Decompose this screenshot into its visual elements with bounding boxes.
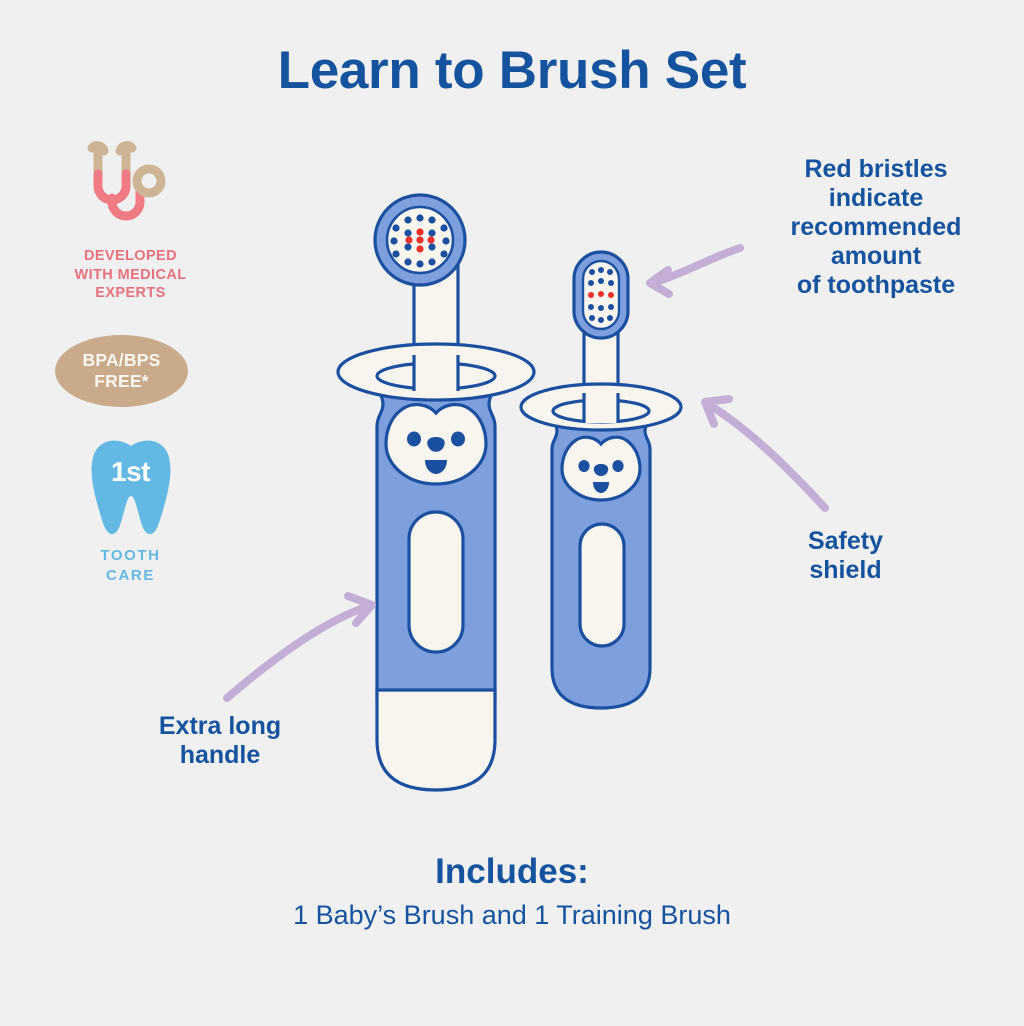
sloth-eye-left-large (407, 432, 421, 447)
callout-extra-long-handle-line-1: Extra long (120, 712, 320, 741)
baby-brush-neck (584, 285, 618, 425)
page-title: Learn to Brush Set (0, 40, 1024, 101)
sloth-mouth-small (593, 482, 609, 493)
training-brush-bristles (390, 214, 449, 267)
callout-red-bristles-line-4: amount (735, 242, 1017, 271)
badge-tooth-caption: TOOTH CARE (38, 546, 223, 585)
badge-medical-caption: DEVELOPED WITH MEDICAL EXPERTS (38, 247, 223, 303)
callout-red-bristles-line-1: Red bristles (735, 155, 1017, 184)
training-brush-bristle-pad (387, 207, 453, 273)
sloth-nose-large (427, 437, 445, 452)
infographic-canvas: Learn to Brush Set DEVELOPED WITH MEDICA… (0, 0, 1024, 1026)
brush-training-large (338, 195, 534, 790)
badge-developed-with-medical-experts: DEVELOPED WITH MEDICAL EXPERTS (38, 138, 223, 303)
training-brush-neck-through-shield (414, 355, 458, 391)
baby-brush-head (574, 252, 628, 338)
training-brush-sloth-face (386, 405, 486, 484)
badge-tooth-line-2: CARE (38, 566, 223, 586)
training-brush-head (375, 195, 465, 285)
baby-brush-neck-through-shield (584, 393, 618, 423)
badge-bpa-bps-free: BPA/BPS FREE* (55, 335, 188, 407)
stethoscope-icon (76, 138, 186, 238)
callout-extra-long-handle-line-2: handle (120, 741, 320, 770)
callout-safety-shield: Safety shield (748, 527, 943, 585)
training-brush-shield-inner-ring (377, 363, 495, 389)
callout-red-bristles-line-3: recommended (735, 213, 1017, 242)
includes-label: Includes: (0, 852, 1024, 892)
arrow-extra-long-handle (227, 596, 372, 698)
training-brush-neck (414, 232, 458, 392)
training-brush-safety-shield (338, 344, 534, 400)
baby-brush-body (552, 404, 650, 708)
callout-red-bristles: Red bristles indicate recommended amount… (735, 155, 1017, 300)
arrow-red-bristles (650, 248, 740, 294)
training-brush-cream-tip (377, 690, 495, 790)
sloth-eye-right-small (612, 460, 623, 472)
callout-safety-shield-line-2: shield (748, 556, 943, 585)
callout-extra-long-handle: Extra long handle (120, 712, 320, 770)
badge-medical-line-2: WITH MEDICAL (38, 266, 223, 285)
badge-bpa-text: BPA/BPS FREE* (83, 350, 161, 392)
sloth-nose-small (594, 464, 608, 476)
badge-medical-line-3: EXPERTS (38, 284, 223, 303)
brush-baby-small (521, 252, 681, 708)
badge-first-tooth-care: 1st TOOTH CARE (38, 438, 223, 585)
baby-brush-safety-shield (521, 384, 681, 430)
badge-medical-line-1: DEVELOPED (38, 247, 223, 266)
sloth-mouth-large (425, 460, 447, 474)
tooth-icon-wrapper: 1st (38, 438, 223, 540)
badge-tooth-line-1: TOOTH (38, 546, 223, 566)
sloth-eye-right-large (451, 432, 465, 447)
badge-bpa-line-1: BPA/BPS (83, 350, 161, 371)
sloth-eye-left-small (578, 460, 589, 472)
training-brush-body (377, 371, 495, 748)
callout-red-bristles-line-2: indicate (735, 184, 1017, 213)
tooth-badge-text: 1st (111, 456, 150, 488)
arrow-safety-shield (705, 399, 825, 508)
callout-safety-shield-line-1: Safety (748, 527, 943, 556)
baby-brush-bristle-pad (583, 261, 619, 329)
training-brush-grip (409, 512, 463, 652)
baby-brush-grip (580, 524, 624, 646)
baby-brush-sloth-face (562, 437, 640, 500)
callout-red-bristles-line-5: of toothpaste (735, 271, 1017, 300)
tooth-icon (86, 438, 176, 540)
badge-bpa-line-2: FREE* (83, 371, 161, 392)
includes-contents: 1 Baby’s Brush and 1 Training Brush (0, 900, 1024, 931)
baby-brush-bristles (588, 267, 614, 323)
baby-brush-shield-inner-ring (553, 400, 649, 422)
